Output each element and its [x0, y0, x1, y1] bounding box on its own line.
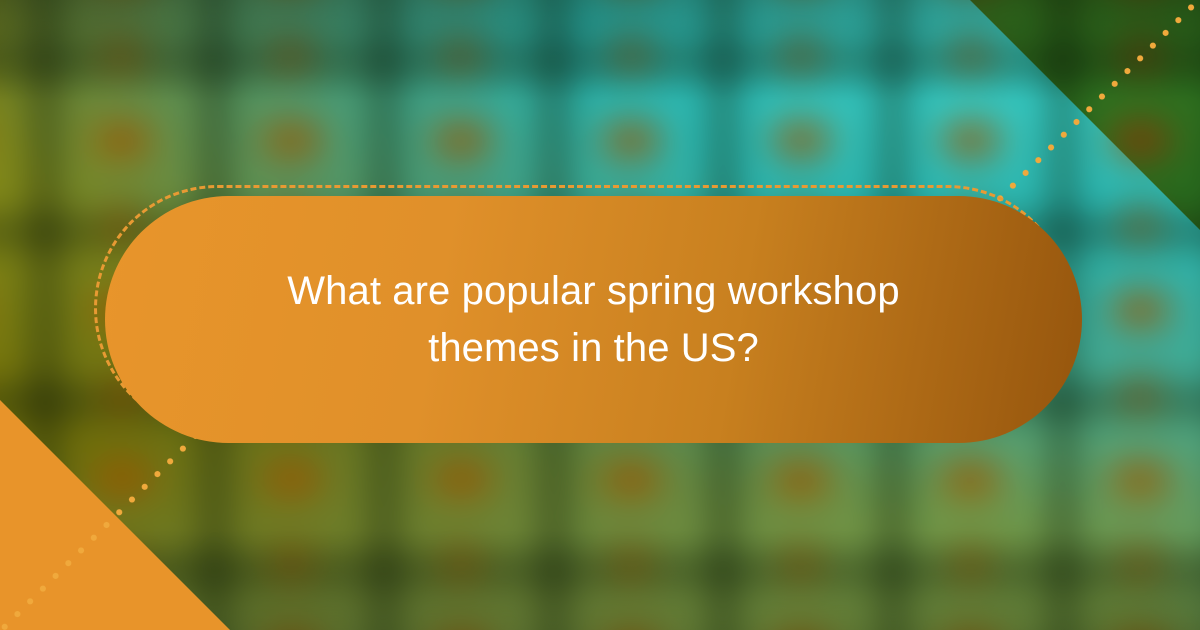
question-text: What are popular spring workshop themes … [244, 263, 944, 377]
question-card-group: What are popular spring workshop themes … [105, 196, 1082, 443]
screenshot-canvas: What are popular spring workshop themes … [0, 0, 1200, 630]
question-card: What are popular spring workshop themes … [105, 196, 1082, 443]
